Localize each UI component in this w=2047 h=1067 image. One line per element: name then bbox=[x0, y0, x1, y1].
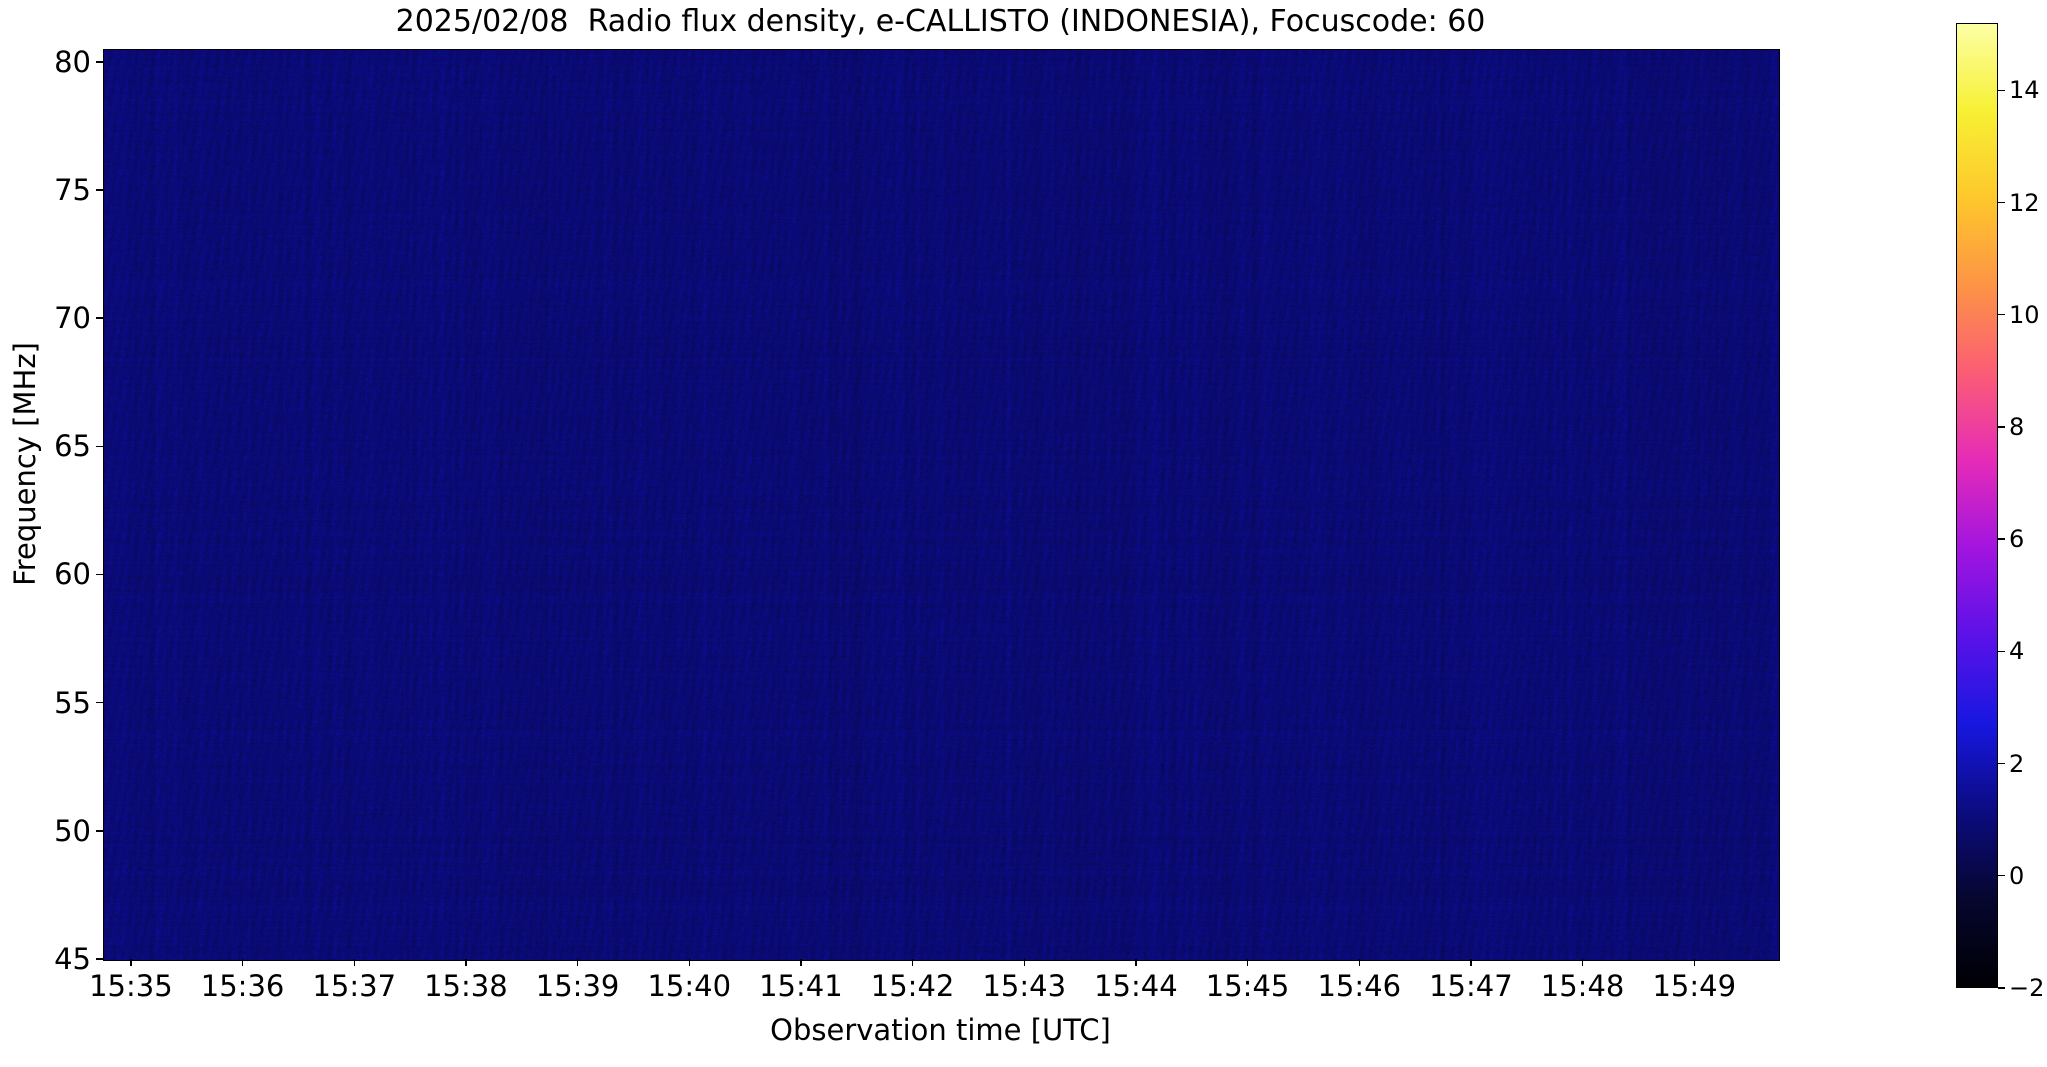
x-tick-mark bbox=[130, 959, 131, 966]
x-tick-mark bbox=[912, 959, 913, 966]
x-tick-mark bbox=[1359, 959, 1360, 966]
colorbar-tick-label: 14 bbox=[2009, 75, 2040, 105]
x-tick-mark bbox=[1470, 959, 1471, 966]
x-tick-mark bbox=[689, 959, 690, 966]
colorbar-tick-label: 6 bbox=[2009, 524, 2024, 554]
colorbar-tick-mark bbox=[1998, 987, 2005, 988]
x-tick-mark bbox=[1135, 959, 1136, 966]
x-tick-mark bbox=[1247, 959, 1248, 966]
colorbar-gradient bbox=[1956, 23, 1998, 988]
colorbar-tick-mark bbox=[1998, 202, 2005, 203]
colorbar-tick-mark bbox=[1998, 651, 2005, 652]
x-tick-mark bbox=[354, 959, 355, 966]
x-axis: 15:3515:3615:3715:3815:3915:4015:4115:42… bbox=[0, 0, 2047, 1067]
colorbar-tick-label: 10 bbox=[2009, 300, 2040, 330]
x-tick-mark bbox=[465, 959, 466, 966]
spectrogram-figure: 2025/02/08 Radio flux density, e-CALLIST… bbox=[0, 0, 2047, 1067]
colorbar-tick-mark bbox=[1998, 875, 2005, 876]
colorbar-tick-label: −2 bbox=[2009, 973, 2044, 1003]
x-axis-label: Observation time [UTC] bbox=[103, 1013, 1778, 1047]
colorbar-tick-mark bbox=[1998, 314, 2005, 315]
colorbar-tick-label: 2 bbox=[2009, 749, 2024, 779]
x-tick-mark bbox=[242, 959, 243, 966]
x-tick-mark bbox=[1582, 959, 1583, 966]
x-tick-mark bbox=[577, 959, 578, 966]
colorbar-tick-mark bbox=[1998, 538, 2005, 539]
colorbar-axis: 14121086420−2 bbox=[1998, 23, 2047, 988]
colorbar-tick-label: 4 bbox=[2009, 636, 2024, 666]
colorbar-tick-label: 12 bbox=[2009, 188, 2040, 218]
colorbar[interactable] bbox=[1956, 23, 1998, 988]
colorbar-tick-mark bbox=[1998, 90, 2005, 91]
x-tick-label: 15:49 bbox=[1624, 968, 1764, 1004]
colorbar-tick-label: 8 bbox=[2009, 412, 2024, 442]
colorbar-tick-label: 0 bbox=[2009, 861, 2024, 891]
x-tick-mark bbox=[1694, 959, 1695, 966]
colorbar-tick-mark bbox=[1998, 426, 2005, 427]
x-tick-mark bbox=[800, 959, 801, 966]
x-tick-mark bbox=[1024, 959, 1025, 966]
colorbar-tick-mark bbox=[1998, 763, 2005, 764]
